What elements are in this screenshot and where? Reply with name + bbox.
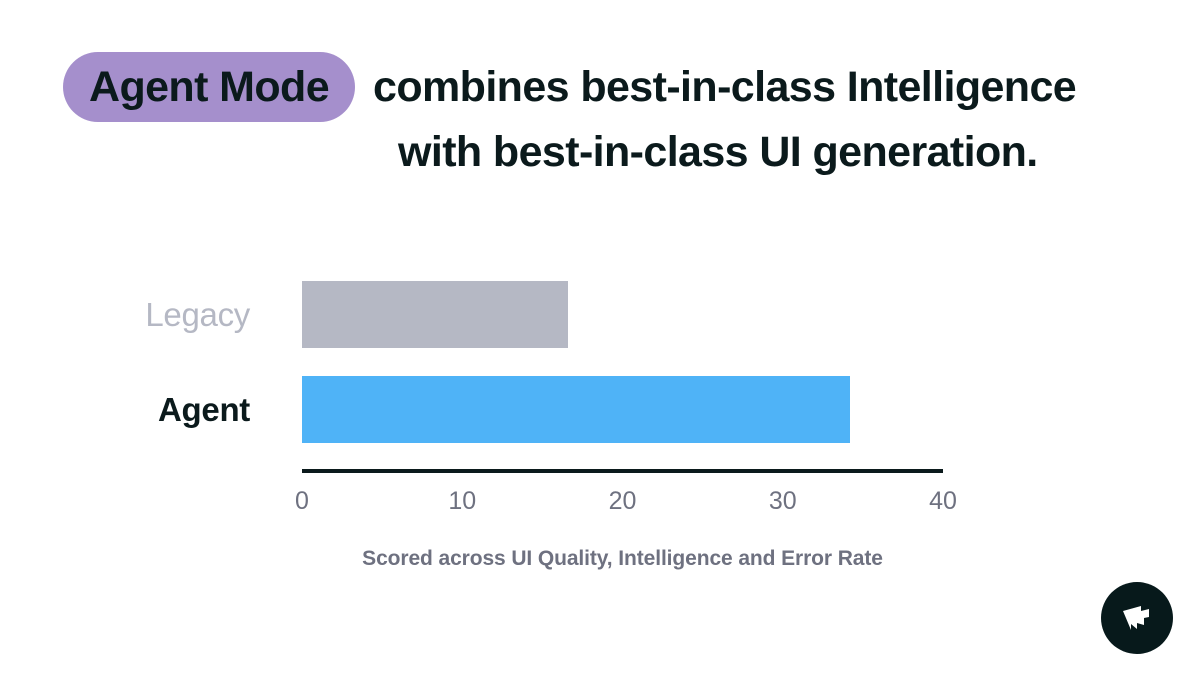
x-axis-tick: 40: [929, 487, 957, 516]
x-axis-tick-labels: 010203040: [302, 487, 943, 521]
x-axis-tick: 0: [295, 487, 309, 516]
headline-line-1: Agent Mode combines best-in-class Intell…: [63, 52, 1153, 122]
bar-fill-legacy: [302, 281, 568, 348]
flag-mark-icon: [1117, 600, 1157, 636]
headline-line-2: with best-in-class UI generation.: [398, 122, 1153, 182]
bar-row: Legacy: [0, 281, 1200, 348]
x-axis-tick: 30: [769, 487, 797, 516]
bar-category-label-legacy: Legacy: [145, 281, 250, 348]
bar-track-agent: [302, 376, 943, 443]
x-axis-line: [302, 469, 943, 473]
x-axis-tick: 20: [609, 487, 637, 516]
bar-fill-agent: [302, 376, 850, 443]
headline-line-1-text: combines best-in-class Intelligence: [373, 57, 1076, 117]
slide-canvas: Agent Mode combines best-in-class Intell…: [0, 0, 1200, 675]
x-axis-tick: 10: [448, 487, 476, 516]
headline-block: Agent Mode combines best-in-class Intell…: [63, 52, 1153, 182]
bar-chart: Legacy Agent 010203040 Scored across UI …: [0, 255, 1200, 595]
bar-row: Agent: [0, 376, 1200, 443]
bar-category-label-agent: Agent: [158, 376, 250, 443]
chart-caption: Scored across UI Quality, Intelligence a…: [302, 547, 943, 571]
bar-track-legacy: [302, 281, 943, 348]
agent-mode-badge: Agent Mode: [63, 52, 355, 122]
brand-logo-badge[interactable]: [1101, 582, 1173, 654]
